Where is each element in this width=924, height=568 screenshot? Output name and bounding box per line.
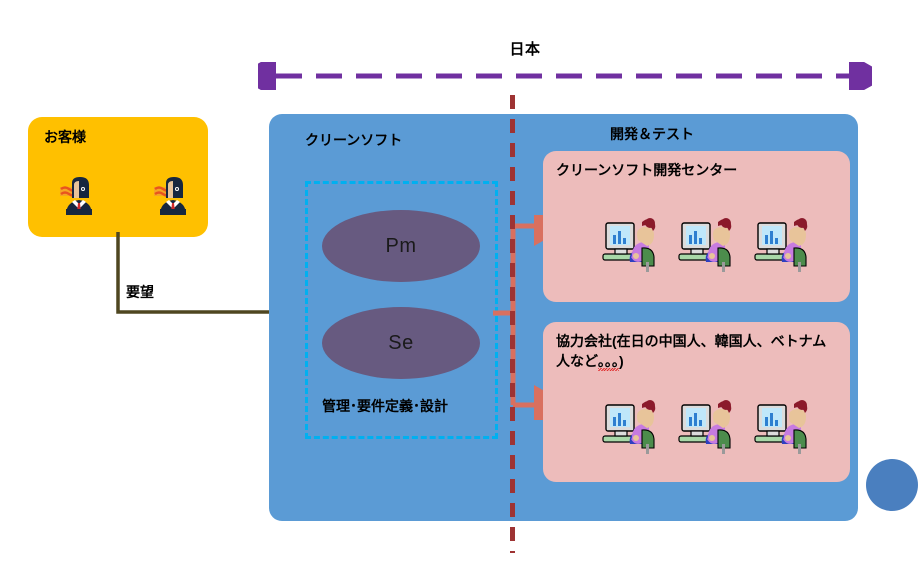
person-at-computer-icon: [752, 396, 810, 458]
partner-title-line2-suffix: ): [619, 353, 624, 369]
partner-title-ellipsis: ｡｡｡: [598, 351, 619, 371]
diagram-canvas: 日本 お客様: [0, 0, 924, 568]
person-at-computer-icon: [676, 214, 734, 276]
request-arrow-label: 要望: [126, 282, 154, 302]
person-at-computer-icon: [600, 214, 658, 276]
development-center-title: クリーンソフト開発センター: [556, 160, 840, 180]
corner-circle-decoration: [866, 459, 918, 511]
scope-title: 日本: [455, 38, 595, 59]
customer-box: お客様: [28, 117, 208, 237]
partner-title-line1: 協力会社(在日の中国人、韓国人、ベトナム: [556, 333, 826, 349]
role-ellipse-pm: Pm: [322, 210, 480, 282]
partner-companies-title: 協力会社(在日の中国人、韓国人、ベトナム人など｡｡｡): [556, 331, 840, 372]
partner-title-line2-prefix: 人など: [556, 353, 598, 369]
businessman-icon: [150, 173, 196, 219]
customer-people-row: [56, 173, 196, 219]
country-divider-line: [510, 95, 515, 553]
businessman-icon: [56, 173, 102, 219]
person-at-computer-icon: [676, 396, 734, 458]
person-at-computer-icon: [600, 396, 658, 458]
person-at-computer-icon: [752, 214, 810, 276]
devtest-section-title: 開発＆テスト: [610, 124, 694, 144]
scope-double-arrow: [258, 62, 872, 90]
partner-companies-workers: [600, 396, 810, 458]
development-center-workers: [600, 214, 810, 276]
customer-box-title: お客様: [44, 127, 86, 147]
company-box-title: クリーンソフト: [305, 130, 402, 150]
pmse-caption: 管理･要件定義･設計: [322, 396, 448, 416]
role-ellipse-se: Se: [322, 307, 480, 379]
